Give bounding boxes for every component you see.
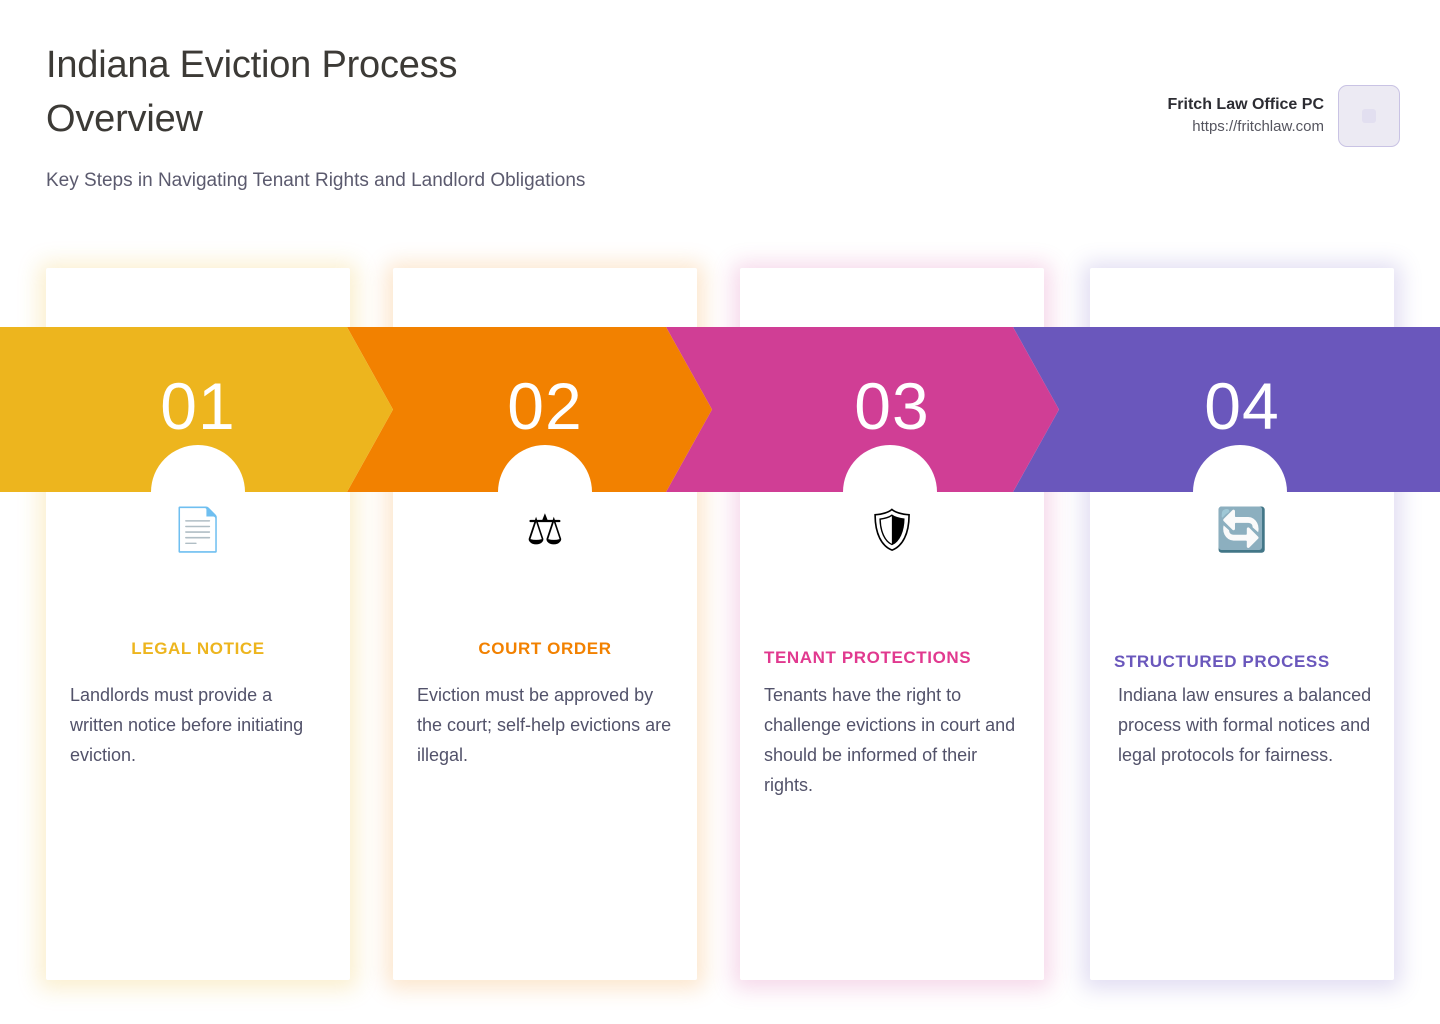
step-number-2: 02	[393, 327, 697, 492]
page-title: Indiana Eviction Process Overview	[46, 38, 476, 146]
brand-block: Fritch Law Office PC https://fritchlaw.c…	[1168, 85, 1400, 147]
brand-logo	[1338, 85, 1400, 147]
document-page-icon: 📄	[46, 509, 350, 551]
step-card-title: COURT ORDER	[393, 639, 697, 659]
balance-scales-icon: ⚖	[393, 509, 697, 551]
step-number-3: 03	[740, 327, 1044, 492]
brand-name: Fritch Law Office PC	[1168, 94, 1324, 116]
step-card-body: Indiana law ensures a balanced process w…	[1118, 680, 1374, 770]
title-block: Indiana Eviction Process Overview Key St…	[46, 38, 866, 194]
page-title-line2: Overview	[46, 92, 476, 146]
page-title-line1: Indiana Eviction Process	[46, 38, 476, 92]
step-card-body: Landlords must provide a written notice …	[70, 680, 326, 770]
step-card-title: TENANT PROTECTIONS	[740, 648, 1044, 668]
step-number-4: 04	[1090, 327, 1394, 492]
placeholder-logo-icon	[1362, 109, 1376, 123]
step-card-body: Eviction must be approved by the court; …	[417, 680, 673, 770]
brand-url[interactable]: https://fritchlaw.com	[1168, 116, 1324, 138]
header: Indiana Eviction Process Overview Key St…	[0, 0, 1440, 250]
infographic-canvas: Indiana Eviction Process Overview Key St…	[0, 0, 1440, 1024]
step-number-1: 01	[46, 327, 350, 492]
refresh-cycle-icon: 🔄	[1090, 509, 1394, 551]
page-subtitle: Key Steps in Navigating Tenant Rights an…	[46, 168, 866, 194]
step-card-body: Tenants have the right to challenge evic…	[764, 680, 1020, 800]
brand-text: Fritch Law Office PC https://fritchlaw.c…	[1168, 94, 1324, 138]
step-card-title: STRUCTURED PROCESS	[1090, 652, 1394, 672]
shield-icon: 🛡	[740, 509, 1044, 551]
step-card-title: LEGAL NOTICE	[46, 639, 350, 659]
